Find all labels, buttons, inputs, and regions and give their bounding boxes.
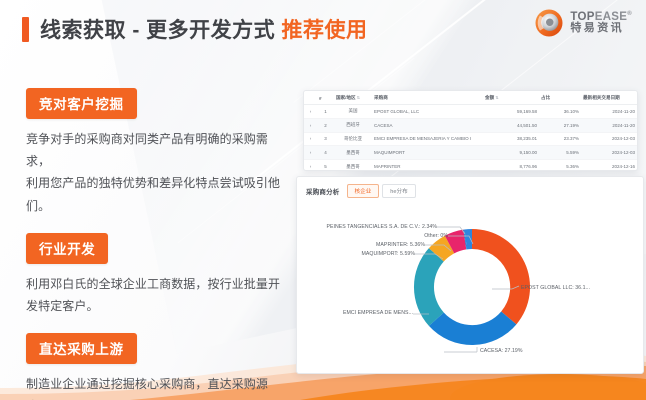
row-amount: 59,169.58 <box>483 105 539 119</box>
title-accent: 推荐使用 <box>282 19 368 42</box>
row-date: 2024-11-20 <box>581 105 637 119</box>
buyer-analysis-card: 采购商分析 核企业 he分布 <box>296 176 644 374</box>
sort-icon[interactable]: ⇅ <box>357 95 360 100</box>
feature-tag: 直达采购上游 <box>26 333 137 364</box>
row-country: 西班牙 <box>334 118 372 132</box>
row-buyer-name[interactable]: MAQUIMPORT <box>372 146 483 160</box>
feature-body: 制造业企业通过挖掘核心采购商，直达采购源头， 绕开中间商，直接提供产品服务 <box>26 373 288 400</box>
row-date: 2024-11-20 <box>581 118 637 132</box>
tab-core-enterprise[interactable]: 核企业 <box>347 184 380 198</box>
row-index: 3 <box>317 132 334 146</box>
row-buyer-name[interactable]: EPOST GLOBAL, LLC <box>372 105 483 119</box>
feature-line: 发特定客户。 <box>26 295 288 317</box>
label-other: Other: 0% <box>297 233 448 239</box>
chart-title: 采购商分析 <box>306 186 340 196</box>
col-last-deal-date: 最新相关交易日期 <box>581 91 637 105</box>
row-buyer-name[interactable]: CACESA <box>372 118 483 132</box>
sort-icon[interactable]: ⇅ <box>495 95 498 100</box>
row-country: 墨西哥 <box>334 146 372 160</box>
tab-distribution[interactable]: he分布 <box>382 184 415 198</box>
feature-block: 竞对客户挖掘 竞争对手的采购商对同类产品有明确的采购需求， 利用您产品的独特优势… <box>26 88 288 217</box>
row-expand-icon[interactable]: › <box>304 160 317 171</box>
row-share: 27.19% <box>539 118 581 132</box>
row-index: 1 <box>317 105 334 119</box>
row-expand-icon[interactable]: › <box>304 118 317 132</box>
label-maprinter: MAPRINTER: 5.36% <box>297 242 425 248</box>
row-date: 2024-12-03 <box>581 146 637 160</box>
slice-epost-global[interactable] <box>472 229 530 324</box>
feature-line: 制造业企业通过挖掘核心采购商，直达采购源头， <box>26 373 288 400</box>
row-date: 2024-12-16 <box>581 160 637 171</box>
col-buyer: 采购商 <box>372 91 483 105</box>
title-accent-bar <box>22 17 29 42</box>
row-expand-icon[interactable]: › <box>304 105 317 119</box>
label-peines: PEINES TANGENCIALES S.A. DE C.V.: 2.34% <box>297 224 437 230</box>
row-date: 2024-12-03 <box>581 132 637 146</box>
row-index: 2 <box>317 118 334 132</box>
logo-wordmark: TOPEASE® 特易资讯 <box>570 11 632 35</box>
table-header-row: # 国家/地区⇅ 采购商 金额⇅ 占比 最新相关交易日期 <box>304 91 637 105</box>
title-main: 线索获取 - 更多开发方式 <box>40 19 275 42</box>
label-maquimport: MAQUIMPORT: 5.59% <box>297 251 415 257</box>
table-row[interactable]: › 4 墨西哥 MAQUIMPORT 9,150.00 5.59% 2024-1… <box>304 146 637 160</box>
row-index: 5 <box>317 160 334 171</box>
table-row[interactable]: › 2 西班牙 CACESA 44,501.50 27.19% 2024-11-… <box>304 118 637 132</box>
slice-cacesa[interactable] <box>429 312 517 346</box>
feature-body: 竞争对手的采购商对同类产品有明确的采购需求， 利用您产品的独特优势和差异化特点尝… <box>26 128 288 217</box>
buyer-table: # 国家/地区⇅ 采购商 金额⇅ 占比 最新相关交易日期 › 1 美国 EPOS… <box>304 91 637 171</box>
feature-line: 利用您产品的独特优势和差异化特点尝试吸引他们。 <box>26 172 288 216</box>
feature-list: 竞对客户挖掘 竞争对手的采购商对同类产品有明确的采购需求， 利用您产品的独特优势… <box>26 88 288 400</box>
brand-logo: TOPEASE® 特易资讯 <box>534 8 632 38</box>
row-country: 美国 <box>334 105 372 119</box>
buyer-table-card: # 国家/地区⇅ 采购商 金额⇅ 占比 最新相关交易日期 › 1 美国 EPOS… <box>303 90 638 171</box>
row-share: 5.36% <box>539 160 581 171</box>
label-emci: EMCI EMPRESA DE MENS... <box>297 310 413 316</box>
table-row[interactable]: › 5 墨西哥 MAPRINTER 8,776.96 5.36% 2024-12… <box>304 160 637 171</box>
row-amount: 38,235.01 <box>483 132 539 146</box>
row-share: 36.10% <box>539 105 581 119</box>
feature-block: 行业开发 利用邓白氏的全球企业工商数据，按行业批量开 发特定客户。 <box>26 233 288 317</box>
row-country: 墨西哥 <box>334 160 372 171</box>
page-title: 线索获取 - 更多开发方式 推荐使用 <box>22 14 368 44</box>
row-buyer-name[interactable]: EMCI EMPRESA DE MENSAJERIA Y CAMBIO I <box>372 132 483 146</box>
table-row[interactable]: › 3 哥伦比亚 EMCI EMPRESA DE MENSAJERIA Y CA… <box>304 132 637 146</box>
label-epost: EPOST GLOBAL LLC: 36.1... <box>521 285 590 291</box>
table-body: › 1 美国 EPOST GLOBAL, LLC 59,169.58 36.10… <box>304 105 637 172</box>
feature-tag: 行业开发 <box>26 233 108 264</box>
label-cacesa: CACESA: 27.19% <box>480 348 523 354</box>
circle-logo-icon <box>534 8 564 38</box>
feature-block: 直达采购上游 制造业企业通过挖掘核心采购商，直达采购源头， 绕开中间商，直接提供… <box>26 333 288 400</box>
col-country[interactable]: 国家/地区⇅ <box>334 91 372 105</box>
row-country: 哥伦比亚 <box>334 132 372 146</box>
feature-line: 竞争对手的采购商对同类产品有明确的采购需求， <box>26 128 288 172</box>
logo-name-cn: 特易资讯 <box>570 23 632 35</box>
col-share: 占比 <box>539 91 581 105</box>
donut-chart: PEINES TANGENCIALES S.A. DE C.V.: 2.34% … <box>297 204 643 370</box>
row-amount: 44,501.50 <box>483 118 539 132</box>
row-buyer-name[interactable]: MAPRINTER <box>372 160 483 171</box>
row-expand-icon[interactable]: › <box>304 132 317 146</box>
row-index: 4 <box>317 146 334 160</box>
row-amount: 8,776.96 <box>483 160 539 171</box>
feature-body: 利用邓白氏的全球企业工商数据，按行业批量开 发特定客户。 <box>26 273 288 317</box>
logo-registered: ® <box>627 11 632 17</box>
feature-line: 利用邓白氏的全球企业工商数据，按行业批量开 <box>26 273 288 295</box>
col-amount[interactable]: 金额⇅ <box>483 91 539 105</box>
chart-card-header: 采购商分析 核企业 he分布 <box>297 177 643 204</box>
col-index: # <box>317 91 334 105</box>
row-share: 5.59% <box>539 146 581 160</box>
row-expand-icon[interactable]: › <box>304 146 317 160</box>
row-share: 23.37% <box>539 132 581 146</box>
slide-canvas: 线索获取 - 更多开发方式 推荐使用 TOPEASE® 特易 <box>0 0 646 400</box>
col-expand <box>304 91 317 105</box>
feature-tag: 竞对客户挖掘 <box>26 88 137 119</box>
table-row[interactable]: › 1 美国 EPOST GLOBAL, LLC 59,169.58 36.10… <box>304 105 637 119</box>
row-amount: 9,150.00 <box>483 146 539 160</box>
title-text: 线索获取 - 更多开发方式 推荐使用 <box>40 14 368 44</box>
